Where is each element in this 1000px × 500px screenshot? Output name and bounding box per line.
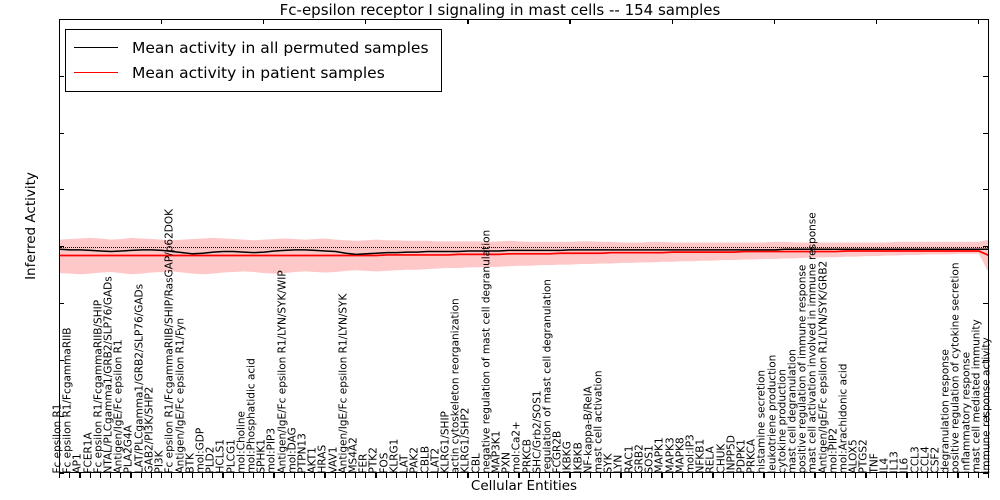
- x-tick-mark-top: [569, 19, 570, 24]
- legend-item-permuted[interactable]: Mean activity in all permuted samples: [74, 35, 429, 60]
- x-tick-mark: [416, 473, 417, 478]
- x-tick-mark: [396, 473, 397, 478]
- y-tick-mark: [59, 189, 64, 190]
- x-tick-mark-top: [978, 19, 979, 24]
- y-tick-mark: [59, 360, 64, 361]
- x-tick-mark: [559, 473, 560, 478]
- x-tick-mark: [202, 473, 203, 478]
- x-tick-mark: [130, 473, 131, 478]
- x-tick-mark: [712, 473, 713, 478]
- x-tick-mark: [763, 473, 764, 478]
- x-tick-mark: [672, 473, 673, 478]
- x-tick-mark-top: [59, 19, 60, 24]
- x-tick-mark: [243, 473, 244, 478]
- y-axis-label: Inferred Activity: [23, 0, 39, 453]
- x-tick-mark: [488, 473, 489, 478]
- x-tick-mark: [651, 473, 652, 478]
- x-tick-mark: [324, 473, 325, 478]
- x-tick-mark-top: [774, 19, 775, 24]
- legend-swatch-black-line: [74, 47, 118, 48]
- x-tick-mark: [978, 473, 979, 478]
- plot-area: Mean activity in all permuted samples Me…: [59, 19, 989, 473]
- x-tick-mark: [590, 473, 591, 478]
- x-tick-mark: [988, 473, 989, 478]
- chart-legend: Mean activity in all permuted samples Me…: [65, 29, 442, 92]
- x-tick-mark: [253, 473, 254, 478]
- x-tick-mark: [784, 473, 785, 478]
- x-tick-mark: [171, 473, 172, 478]
- x-tick-mark-top: [365, 19, 366, 24]
- x-tick-mark: [610, 473, 611, 478]
- x-tick-mark: [692, 473, 693, 478]
- x-tick-mark: [233, 473, 234, 478]
- x-tick-mark: [580, 473, 581, 478]
- y-tick-mark: [59, 246, 64, 247]
- x-tick-mark: [539, 473, 540, 478]
- x-tick-mark: [192, 473, 193, 478]
- x-tick-mark: [968, 473, 969, 478]
- chart-root: Fc-epsilon receptor I signaling in mast …: [0, 0, 1000, 500]
- legend-label-patient: Mean activity in patient samples: [132, 64, 385, 82]
- x-tick-mark: [906, 473, 907, 478]
- x-tick-mark: [120, 473, 121, 478]
- x-tick-mark: [498, 473, 499, 478]
- x-tick-mark: [365, 473, 366, 478]
- x-tick-mark: [723, 473, 724, 478]
- x-tick-mark: [549, 473, 550, 478]
- x-tick-mark: [222, 473, 223, 478]
- x-tick-mark: [100, 473, 101, 478]
- y-tick-mark: [983, 303, 988, 304]
- x-tick-mark: [478, 473, 479, 478]
- x-tick-mark: [743, 473, 744, 478]
- x-tick-mark: [508, 473, 509, 478]
- x-tick-mark: [386, 473, 387, 478]
- x-tick-mark: [600, 473, 601, 478]
- y-tick-mark: [59, 416, 64, 417]
- x-tick-mark: [79, 473, 80, 478]
- x-tick-mark: [947, 473, 948, 478]
- x-tick-mark: [804, 473, 805, 478]
- x-tick-mark: [212, 473, 213, 478]
- x-tick-mark: [437, 473, 438, 478]
- x-tick-mark-top: [161, 19, 162, 24]
- x-tick-mark-top: [672, 19, 673, 24]
- x-tick-mark: [794, 473, 795, 478]
- x-tick-mark: [886, 473, 887, 478]
- x-tick-mark: [263, 473, 264, 478]
- x-tick-mark: [620, 473, 621, 478]
- x-tick-mark: [161, 473, 162, 478]
- legend-item-patient[interactable]: Mean activity in patient samples: [74, 60, 429, 85]
- x-tick-mark: [518, 473, 519, 478]
- x-tick-mark: [345, 473, 346, 478]
- x-tick-mark: [865, 473, 866, 478]
- x-tick-mark: [110, 473, 111, 478]
- y-tick-mark: [983, 246, 988, 247]
- x-tick-mark: [304, 473, 305, 478]
- x-tick-mark: [314, 473, 315, 478]
- x-tick-mark: [90, 473, 91, 478]
- x-tick-mark: [69, 473, 70, 478]
- x-tick-mark: [59, 473, 60, 478]
- x-tick-mark: [182, 473, 183, 478]
- x-tick-mark: [141, 473, 142, 478]
- x-tick-mark: [427, 473, 428, 478]
- x-tick-mark: [896, 473, 897, 478]
- x-tick-mark: [774, 473, 775, 478]
- x-tick-mark: [845, 473, 846, 478]
- x-tick-mark: [835, 473, 836, 478]
- y-tick-mark: [983, 76, 988, 77]
- x-tick-mark: [631, 473, 632, 478]
- y-tick-mark: [59, 133, 64, 134]
- x-tick-mark: [457, 473, 458, 478]
- y-tick-mark: [983, 360, 988, 361]
- y-tick-mark: [59, 76, 64, 77]
- x-tick-mark: [753, 473, 754, 478]
- x-tick-mark: [284, 473, 285, 478]
- y-tick-mark: [983, 19, 988, 20]
- x-tick-mark: [927, 473, 928, 478]
- x-tick-mark: [355, 473, 356, 478]
- x-tick-mark: [682, 473, 683, 478]
- x-tick-mark: [661, 473, 662, 478]
- legend-swatch-red-line: [74, 72, 118, 73]
- x-tick-mark: [814, 473, 815, 478]
- x-tick-mark-top: [876, 19, 877, 24]
- x-tick-mark: [876, 473, 877, 478]
- x-tick-mark: [917, 473, 918, 478]
- x-tick-mark: [702, 473, 703, 478]
- x-tick-mark: [641, 473, 642, 478]
- x-axis-label: Cellular Entities: [59, 478, 989, 494]
- x-tick-mark: [335, 473, 336, 478]
- y-tick-mark: [983, 189, 988, 190]
- x-tick-mark: [733, 473, 734, 478]
- x-tick-mark: [937, 473, 938, 478]
- x-tick-mark: [406, 473, 407, 478]
- x-tick-mark: [467, 473, 468, 478]
- x-tick-mark: [294, 473, 295, 478]
- x-tick-mark: [447, 473, 448, 478]
- zero-reference-line: [60, 247, 989, 248]
- x-tick-mark-top: [467, 19, 468, 24]
- x-tick-mark: [957, 473, 958, 478]
- x-tick-mark: [569, 473, 570, 478]
- x-tick-mark: [375, 473, 376, 478]
- x-tick-mark: [151, 473, 152, 478]
- x-tick-mark: [825, 473, 826, 478]
- x-tick-mark: [529, 473, 530, 478]
- y-tick-mark: [983, 416, 988, 417]
- x-tick-mark: [855, 473, 856, 478]
- y-tick-mark: [59, 303, 64, 304]
- x-tick-mark: [273, 473, 274, 478]
- legend-label-permuted: Mean activity in all permuted samples: [132, 39, 429, 57]
- chart-title: Fc-epsilon receptor I signaling in mast …: [0, 1, 1000, 19]
- y-tick-mark: [983, 133, 988, 134]
- x-tick-mark-top: [263, 19, 264, 24]
